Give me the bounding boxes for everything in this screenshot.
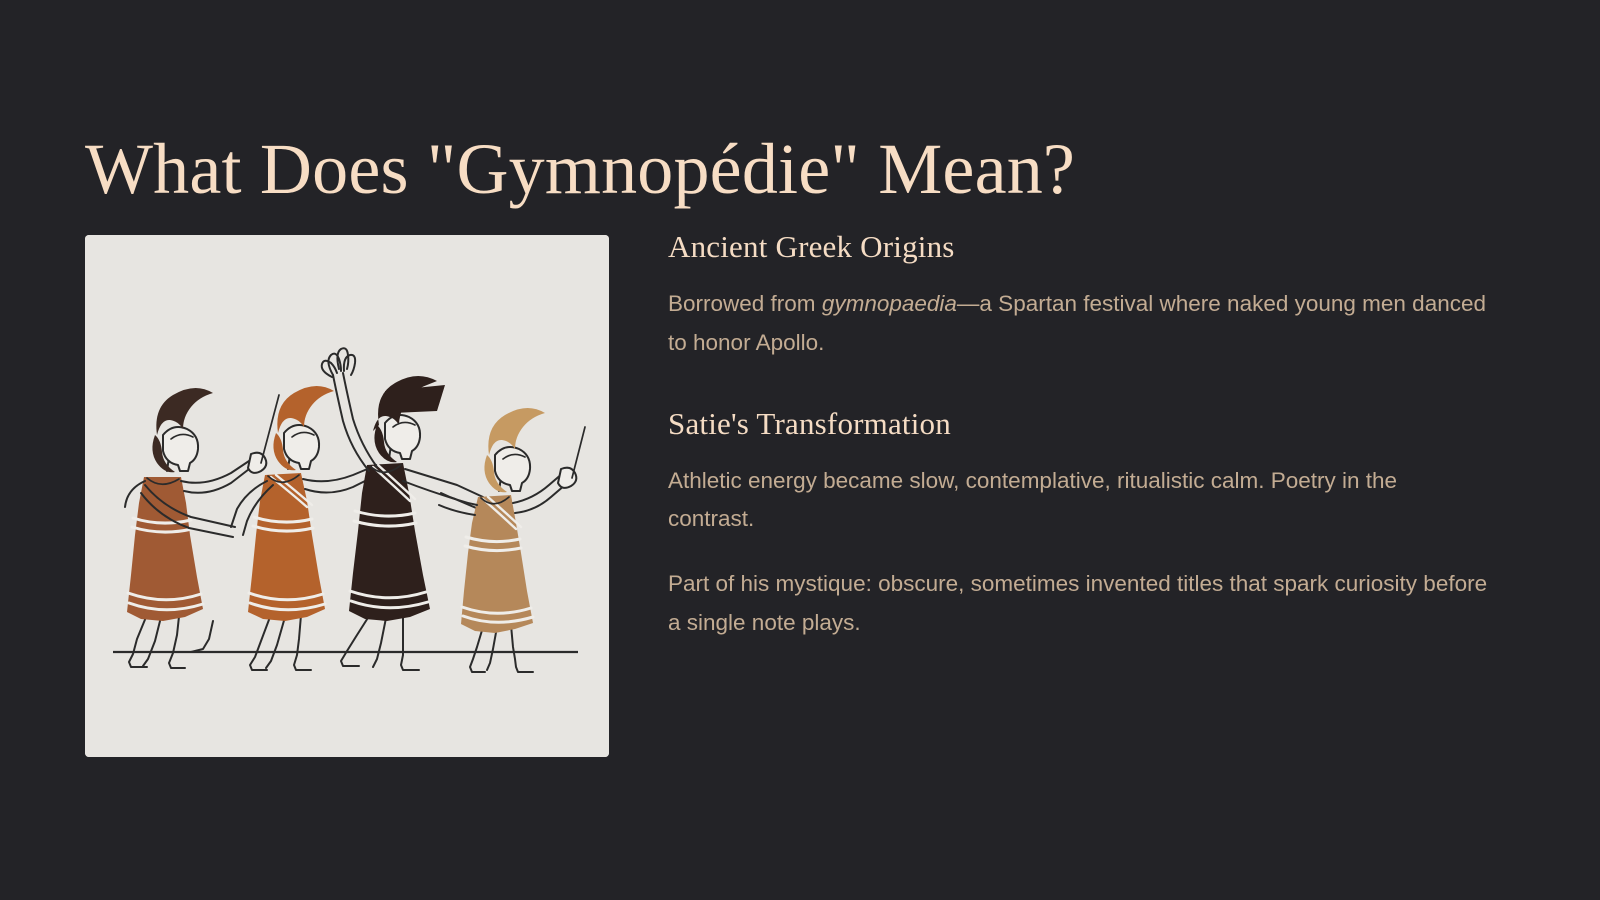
paragraph-transformation-2: Part of his mystique: obscure, sometimes… <box>668 565 1488 642</box>
section-heading-transformation: Satie's Transformation <box>668 405 1498 442</box>
paragraph-origins-before: Borrowed from <box>668 291 822 316</box>
text-column: Ancient Greek Origins Borrowed from gymn… <box>668 228 1498 643</box>
slide-root: What Does "Gymnopédie" Mean? .ln { fill:… <box>0 0 1600 900</box>
paragraph-origins-italic-term: gymnopaedia <box>822 291 957 316</box>
greek-dancers-illustration: .ln { fill:none; stroke:#2B2B2B; stroke-… <box>85 235 609 757</box>
paragraph-origins: Borrowed from gymnopaedia—a Spartan fest… <box>668 285 1488 362</box>
illustration-panel: .ln { fill:none; stroke:#2B2B2B; stroke-… <box>85 235 609 757</box>
paragraph-transformation-1: Athletic energy became slow, contemplati… <box>668 462 1488 539</box>
page-title: What Does "Gymnopédie" Mean? <box>85 130 1385 209</box>
section-heading-origins: Ancient Greek Origins <box>668 228 1498 265</box>
